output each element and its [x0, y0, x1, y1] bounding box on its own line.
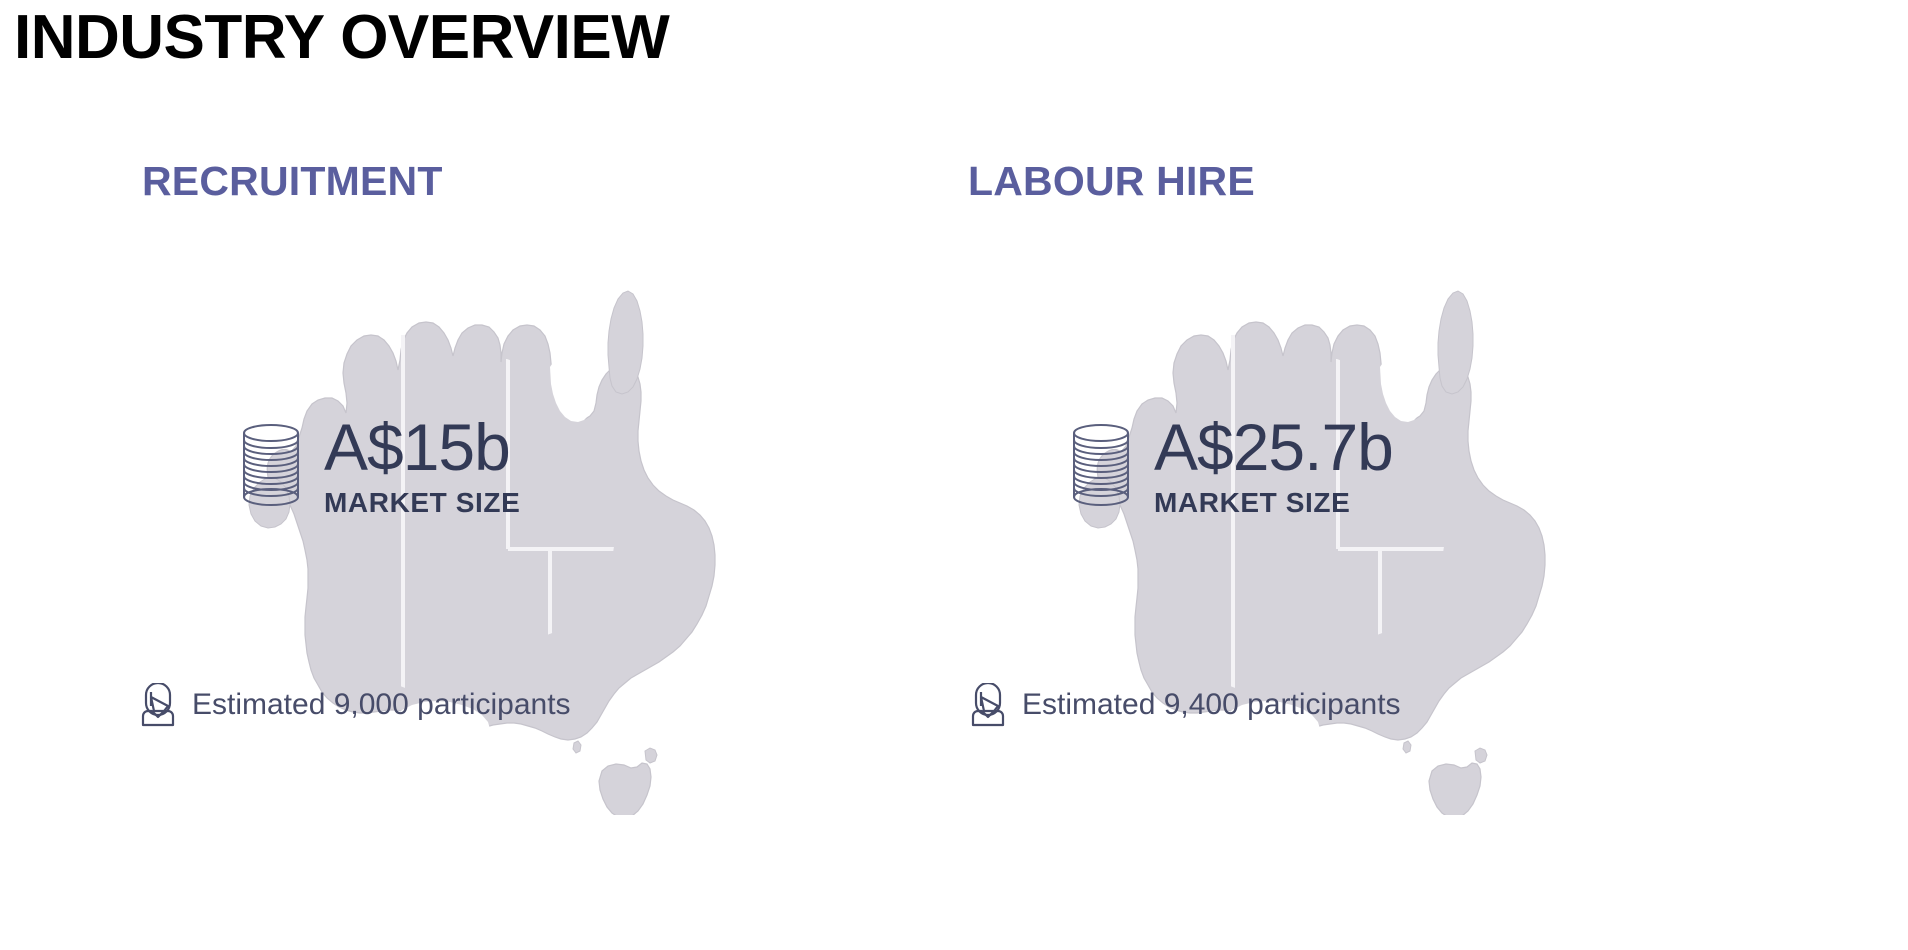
panel-heading-recruitment: RECRUITMENT [142, 158, 443, 205]
footnote-text: Estimated 9,000 participants [192, 688, 571, 722]
tasmania-island [1403, 741, 1487, 815]
footnote-labour-hire: Estimated 9,400 participants [968, 683, 1401, 727]
metric-market-size-labour-hire: A$25.7b MARKET SIZE [1070, 415, 1393, 519]
metric-text-group: A$25.7b MARKET SIZE [1154, 415, 1393, 519]
footnote-recruitment: Estimated 9,000 participants [138, 683, 571, 727]
metric-value: A$15b [324, 415, 520, 480]
panel-heading-labour-hire: LABOUR HIRE [968, 158, 1255, 205]
person-participant-icon [968, 683, 1008, 727]
metric-value: A$25.7b [1154, 415, 1393, 480]
metric-market-size-recruitment: A$15b MARKET SIZE [240, 415, 520, 519]
metric-text-group: A$15b MARKET SIZE [324, 415, 520, 519]
coin-stack-icon [1070, 421, 1132, 513]
slide-root: INDUSTRY OVERVIEW RECRUITMENT [0, 0, 1908, 950]
panel-recruitment: RECRUITMENT [100, 150, 940, 950]
panel-labour-hire: LABOUR HIRE [940, 150, 1780, 950]
metric-label: MARKET SIZE [1154, 487, 1393, 519]
metric-label: MARKET SIZE [324, 487, 520, 519]
coin-stack-icon [240, 421, 302, 513]
page-title: INDUSTRY OVERVIEW [14, 4, 669, 72]
footnote-text: Estimated 9,400 participants [1022, 688, 1401, 722]
person-participant-icon [138, 683, 178, 727]
tasmania-island [573, 741, 657, 815]
